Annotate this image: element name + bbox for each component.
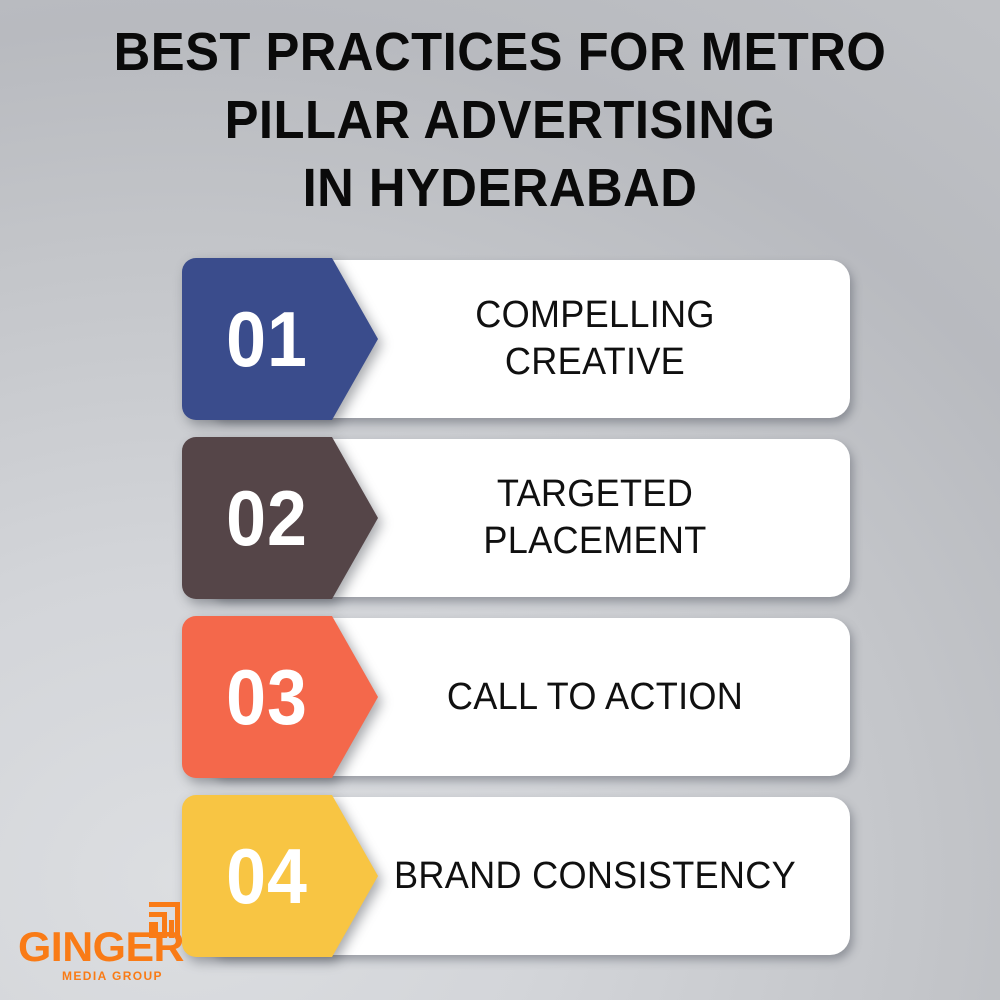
brand-logo[interactable]: GINGER MEDIA GROUP [18,906,208,984]
title-line-1: BEST PRACTICES FOR METRO [30,18,970,86]
step-card-01[interactable]: 01 COMPELLING CREATIVE [0,258,1000,420]
step-label-03: CALL TO ACTION [358,616,833,778]
step-label-02: TARGETED PLACEMENT [358,437,833,599]
step-number-04: 04 [189,795,345,957]
step-label-04: BRAND CONSISTENCY [358,795,833,957]
page-title: BEST PRACTICES FOR METRO PILLAR ADVERTIS… [0,18,1000,222]
step-number-03: 03 [189,616,345,778]
step-number-01: 01 [189,258,345,420]
step-number-02: 02 [189,437,345,599]
title-line-3: IN HYDERABAD [30,154,970,222]
infographic-poster: BEST PRACTICES FOR METRO PILLAR ADVERTIS… [0,0,1000,1000]
step-label-01: COMPELLING CREATIVE [358,258,833,420]
steps-list: 01 COMPELLING CREATIVE 02 TARGETED PLACE… [0,258,1000,974]
logo-subtitle: MEDIA GROUP [62,970,163,982]
step-card-02[interactable]: 02 TARGETED PLACEMENT [0,437,1000,599]
title-line-2: PILLAR ADVERTISING [30,86,970,154]
step-card-03[interactable]: 03 CALL TO ACTION [0,616,1000,778]
stepped-bars-icon [149,902,187,938]
